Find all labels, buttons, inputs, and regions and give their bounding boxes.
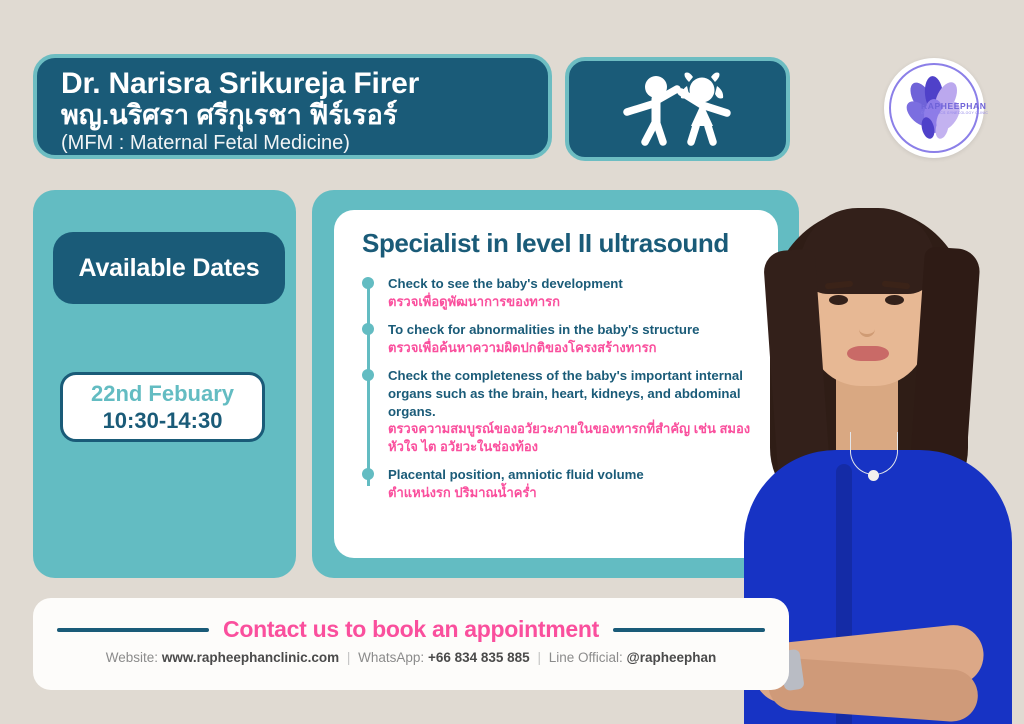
bullet-dot-icon: [362, 323, 374, 335]
contact-details: Website: www.rapheephanclinic.com | What…: [33, 650, 789, 665]
contact-footer: Contact us to book an appointment Websit…: [33, 598, 789, 690]
divider-right: [613, 628, 765, 632]
doctor-name-th: พญ.นริศรา ศรีกุเรชา ฟีร์เรอร์: [61, 100, 548, 130]
bullet-text-th: ตำแหน่งรก ปริมาณน้ำคร่ำ: [388, 484, 760, 502]
available-dates-label: Available Dates: [79, 254, 260, 283]
portrait-mouth: [847, 346, 889, 361]
portrait-necklace-chain: [850, 432, 898, 475]
bullet-text-en: Placental position, amniotic fluid volum…: [388, 466, 760, 484]
website-value[interactable]: www.rapheephanclinic.com: [162, 650, 339, 665]
logo-ring: RAPHEEPHAN OBSTETRICS GYNECOLOGY CLINIC: [889, 63, 979, 153]
bullet-text-en: To check for abnormalities in the baby's…: [388, 321, 760, 339]
children-illustration-box: [565, 57, 790, 161]
clinic-logo: RAPHEEPHAN OBSTETRICS GYNECOLOGY CLINIC: [884, 58, 984, 158]
portrait-eye-right: [885, 295, 904, 305]
portrait-eye-left: [829, 295, 848, 305]
services-card: Specialist in level II ultrasound Check …: [334, 210, 778, 558]
portrait-eyebrow-left: [825, 281, 853, 290]
contact-headline-row: Contact us to book an appointment: [33, 616, 789, 643]
portrait-hair-top: [800, 208, 936, 294]
line-value[interactable]: @rapheephan: [627, 650, 717, 665]
whatsapp-value[interactable]: +66 834 835 885: [428, 650, 530, 665]
bullet-text-en: Check to see the baby's development: [388, 275, 760, 293]
two-children-icon: [603, 72, 753, 146]
available-dates-heading: Available Dates: [53, 232, 285, 304]
services-panel: Specialist in level II ultrasound Check …: [312, 190, 799, 578]
portrait-arm-lower: [766, 657, 979, 724]
available-dates-panel: Available Dates 22nd Febuary 10:30-14:30: [33, 190, 296, 578]
line-label: Line Official:: [549, 650, 623, 665]
portrait-face: [809, 228, 927, 386]
services-list: Check to see the baby's development ตรวจ…: [362, 275, 760, 502]
list-item: To check for abnormalities in the baby's…: [388, 321, 760, 356]
portrait-nose: [859, 314, 875, 337]
services-title: Specialist in level II ultrasound: [362, 228, 760, 259]
logo-name: RAPHEEPHAN: [921, 101, 987, 111]
bullet-text-en: Check the completeness of the baby's imp…: [388, 367, 760, 420]
bullet-text-th: ตรวจเพื่อค้นหาความผิดปกติของโครงสร้างทาร…: [388, 339, 760, 357]
portrait-neck: [836, 378, 898, 468]
portrait-hair-right: [907, 246, 981, 511]
bullet-dot-icon: [362, 277, 374, 289]
doctor-name-en: Dr. Narisra Srikureja Firer: [61, 68, 548, 100]
bullet-dot-icon: [362, 369, 374, 381]
bullet-text-th: ตรวจเพื่อดูพัฒนาการของทารก: [388, 293, 760, 311]
contact-separator-1: |: [343, 650, 355, 665]
portrait-necklace-pearl: [868, 470, 879, 481]
whatsapp-label: WhatsApp:: [358, 650, 424, 665]
doctor-credentials: (MFM : Maternal Fetal Medicine): [61, 130, 548, 156]
logo-tagline: OBSTETRICS GYNECOLOGY CLINIC: [921, 111, 988, 115]
slot-time: 10:30-14:30: [103, 407, 223, 435]
slot-date: 22nd Febuary: [91, 380, 234, 408]
website-label: Website:: [106, 650, 158, 665]
list-item: Check the completeness of the baby's imp…: [388, 367, 760, 455]
poster-canvas: Dr. Narisra Srikureja Firer พญ.นริศรา ศร…: [0, 0, 1024, 724]
list-item: Check to see the baby's development ตรวจ…: [388, 275, 760, 310]
divider-left: [57, 628, 209, 632]
portrait-eyebrow-right: [882, 281, 910, 290]
portrait-hair-back: [770, 208, 968, 518]
bullet-text-th: ตรวจความสมบูรณ์ของอวัยวะภายในของทารกที่ส…: [388, 420, 760, 455]
bullet-dot-icon: [362, 468, 374, 480]
date-slot-card[interactable]: 22nd Febuary 10:30-14:30: [60, 372, 265, 442]
doctor-name-box: Dr. Narisra Srikureja Firer พญ.นริศรา ศร…: [33, 54, 552, 159]
contact-separator-2: |: [533, 650, 545, 665]
portrait-dress-placket: [836, 464, 852, 724]
contact-headline: Contact us to book an appointment: [223, 616, 599, 643]
list-item: Placental position, amniotic fluid volum…: [388, 466, 760, 501]
